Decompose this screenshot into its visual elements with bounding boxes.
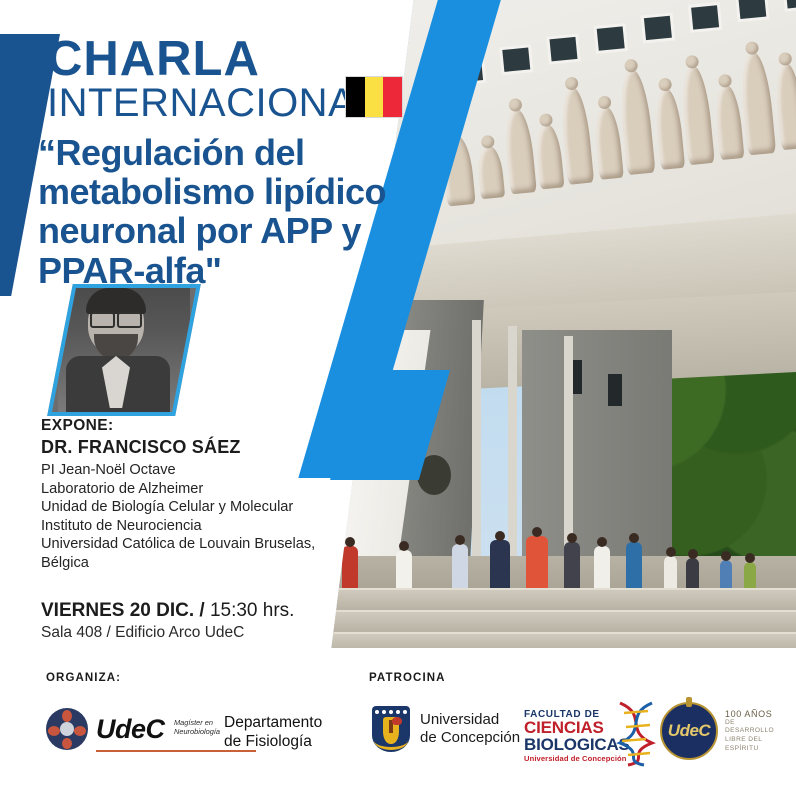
udec-line1: Universidad — [420, 711, 520, 729]
centenario-brand: UdeC — [668, 721, 710, 741]
centenario-coin-icon: UdeC — [660, 702, 718, 760]
centenario-line1: 100 AÑOS — [725, 709, 774, 719]
photo-step — [312, 610, 796, 634]
poster: CHARLA INTERNACIONAL “Regulación del met… — [0, 0, 796, 796]
dpto-line2: de Fisiología — [224, 733, 322, 752]
event-room: Sala 408 / Edificio Arco UdeC — [41, 624, 294, 642]
udec-centenario-logo: UdeC 100 AÑOS DE DESARROLLO LIBRE DEL ES… — [660, 702, 774, 760]
event-time: 15:30 hrs. — [210, 600, 295, 621]
event-datetime: VIERNES 20 DIC. / 15:30 hrs. — [41, 600, 294, 622]
photo-step — [312, 632, 796, 648]
speaker-affiliation: PI Jean-Noël Octave Laboratorio de Alzhe… — [41, 461, 351, 572]
departamento-fisiologia-label: Departamento de Fisiología — [224, 714, 322, 752]
neuron-icon — [46, 708, 88, 750]
magister-neurobiologia-logo: UdeC Magíster en Neurobiología — [46, 708, 165, 750]
ciencias-biologicas-logo: FACULTAD DE CIENCIAS BIOLOGICAS Universi… — [524, 705, 654, 767]
headline-charla: CHARLA — [47, 36, 378, 83]
universidad-concepcion-logo: Universidad de Concepción — [372, 706, 520, 752]
event-details: VIERNES 20 DIC. / 15:30 hrs. Sala 408 / … — [41, 600, 294, 642]
centenario-line2: DE DESARROLLO LIBRE DEL ESPÍRITU — [725, 719, 774, 753]
dna-helix-icon — [610, 701, 662, 767]
photo-step — [312, 588, 796, 612]
headline-internacional: INTERNACIONAL — [47, 83, 378, 123]
speaker-photo — [47, 284, 201, 416]
udec-line2: de Concepción — [420, 729, 520, 747]
magister-brand: UdeC — [96, 716, 165, 743]
expone-label: EXPONE: — [41, 417, 114, 435]
patrocina-label: PATROCINA — [369, 672, 446, 684]
event-date: VIERNES 20 DIC. — [41, 600, 194, 621]
photo-people — [312, 500, 796, 596]
shield-icon — [372, 706, 410, 752]
talk-title: “Regulación del metabolismo lipídico neu… — [38, 133, 418, 290]
headline: CHARLA INTERNACIONAL — [47, 36, 378, 123]
event-separator: / — [194, 600, 210, 621]
dpto-line1: Departamento — [224, 714, 322, 733]
organiza-label: ORGANIZA: — [46, 672, 121, 684]
speaker-name: DR. FRANCISCO SÁEZ — [41, 437, 241, 458]
belgium-flag-icon — [345, 76, 403, 118]
